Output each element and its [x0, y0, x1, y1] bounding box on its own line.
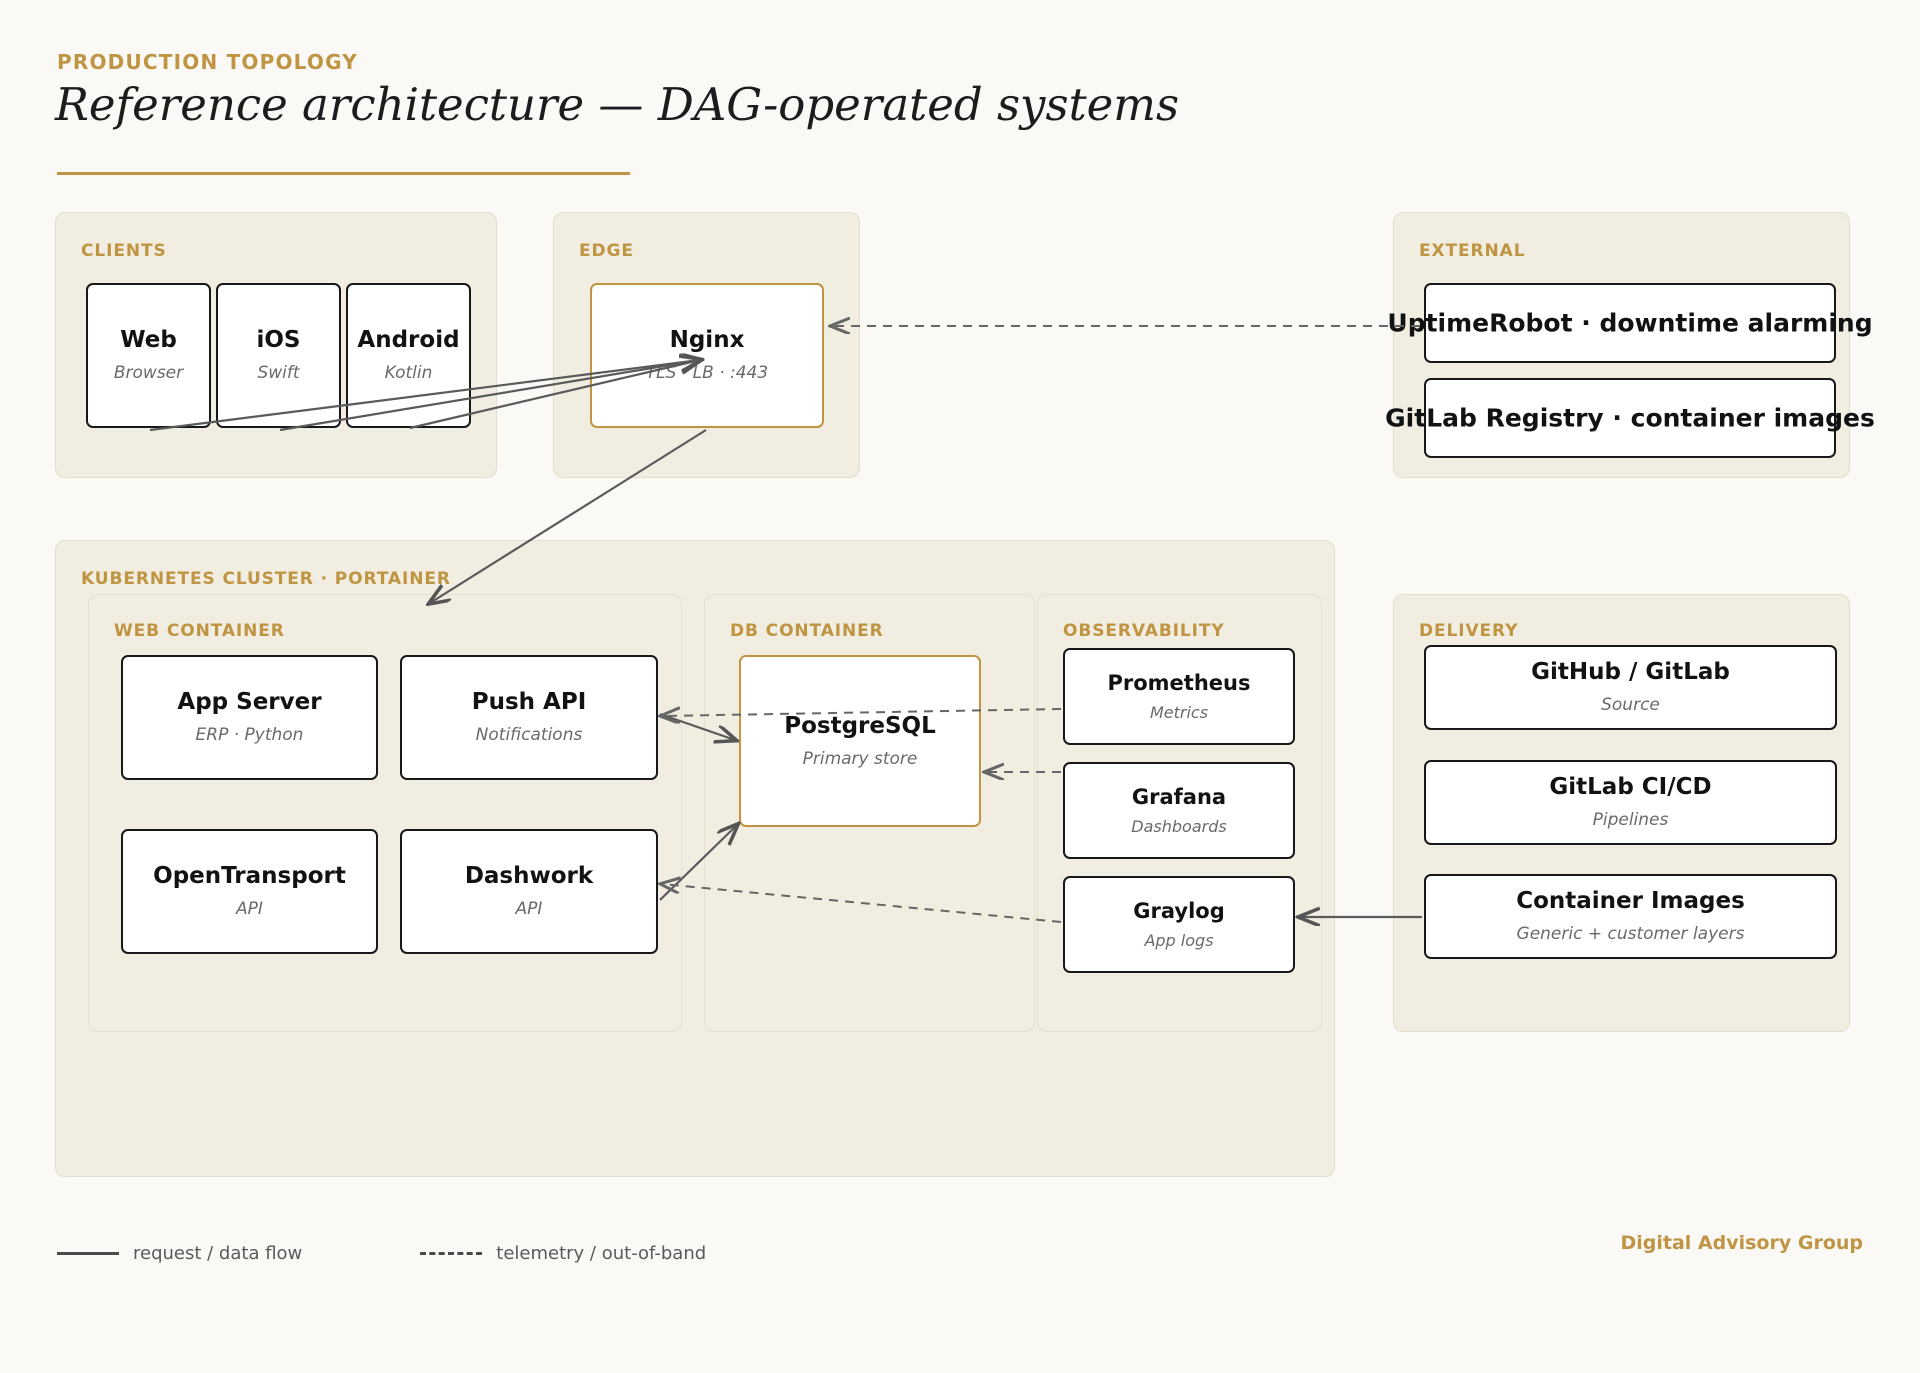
- card-title: Grafana: [1132, 786, 1226, 809]
- card-graylog[interactable]: Graylog App logs: [1063, 876, 1295, 973]
- solid-line-icon: [57, 1252, 119, 1255]
- legend-label: request / data flow: [133, 1243, 302, 1264]
- card-title: OpenTransport: [153, 864, 346, 889]
- card-subtitle: ERP · Python: [196, 726, 304, 745]
- card-gitlab-registry[interactable]: GitLab Registry · container images: [1424, 378, 1836, 458]
- card-subtitle: Primary store: [803, 750, 918, 769]
- card-ios[interactable]: iOS Swift: [216, 283, 341, 428]
- card-title: Web: [120, 328, 177, 353]
- card-subtitle: Generic + customer layers: [1517, 925, 1745, 944]
- card-title: Container Images: [1516, 889, 1745, 914]
- card-web[interactable]: Web Browser: [86, 283, 211, 428]
- card-opentransport[interactable]: OpenTransport API: [121, 829, 378, 954]
- card-title: Graylog: [1133, 900, 1224, 923]
- card-subtitle: TLS · LB · :443: [646, 364, 768, 383]
- title-rule: [57, 172, 630, 175]
- card-title: App Server: [177, 690, 321, 715]
- legend-label: telemetry / out-of-band: [496, 1243, 706, 1264]
- card-title: Prometheus: [1108, 672, 1251, 695]
- brand-label: Digital Advisory Group: [1620, 1232, 1863, 1254]
- card-subtitle: Notifications: [476, 726, 583, 745]
- card-title: UptimeRobot · downtime alarming: [1387, 309, 1872, 337]
- card-title: iOS: [256, 328, 300, 353]
- legend-item-dashed: telemetry / out-of-band: [420, 1243, 706, 1264]
- card-subtitle: Browser: [114, 364, 183, 383]
- card-subtitle: API: [236, 900, 263, 919]
- card-android[interactable]: Android Kotlin: [346, 283, 471, 428]
- card-title: Nginx: [670, 328, 745, 353]
- card-subtitle: API: [516, 900, 543, 919]
- card-postgresql[interactable]: PostgreSQL Primary store: [739, 655, 981, 827]
- card-nginx[interactable]: Nginx TLS · LB · :443: [590, 283, 824, 428]
- card-gitlab-cicd[interactable]: GitLab CI/CD Pipelines: [1424, 760, 1837, 845]
- card-app-server[interactable]: App Server ERP · Python: [121, 655, 378, 780]
- panel-label-delivery: DELIVERY: [1419, 621, 1518, 641]
- card-subtitle: Pipelines: [1593, 811, 1669, 830]
- panel-label-kubernetes: KUBERNETES CLUSTER · PORTAINER: [81, 569, 451, 589]
- card-title: Push API: [472, 690, 587, 715]
- card-title: GitLab Registry · container images: [1385, 404, 1875, 432]
- panel-label-web-container: WEB CONTAINER: [114, 621, 285, 641]
- panel-label-external: EXTERNAL: [1419, 241, 1525, 261]
- card-subtitle: Metrics: [1150, 704, 1208, 722]
- card-dashwork[interactable]: Dashwork API: [400, 829, 658, 954]
- card-title: PostgreSQL: [784, 714, 936, 739]
- card-title: GitLab CI/CD: [1549, 775, 1711, 800]
- legend-item-solid: request / data flow: [57, 1243, 302, 1264]
- card-grafana[interactable]: Grafana Dashboards: [1063, 762, 1295, 859]
- card-prometheus[interactable]: Prometheus Metrics: [1063, 648, 1295, 745]
- card-subtitle: Dashboards: [1131, 818, 1226, 836]
- card-github-gitlab[interactable]: GitHub / GitLab Source: [1424, 645, 1837, 730]
- card-title: Android: [357, 328, 459, 353]
- panel-label-db-container: DB CONTAINER: [730, 621, 884, 641]
- card-title: Dashwork: [465, 864, 593, 889]
- card-subtitle: Kotlin: [385, 364, 433, 383]
- diagram-canvas: PRODUCTION TOPOLOGY Reference architectu…: [0, 0, 1920, 1373]
- page-title: Reference architecture — DAG-operated sy…: [55, 78, 1179, 131]
- card-push-api[interactable]: Push API Notifications: [400, 655, 658, 780]
- card-title: GitHub / GitLab: [1531, 660, 1730, 685]
- eyebrow-label: PRODUCTION TOPOLOGY: [57, 50, 358, 74]
- card-container-images[interactable]: Container Images Generic + customer laye…: [1424, 874, 1837, 959]
- panel-label-clients: CLIENTS: [81, 241, 167, 261]
- legend: request / data flow telemetry / out-of-b…: [57, 1243, 824, 1264]
- card-uptimerobot[interactable]: UptimeRobot · downtime alarming: [1424, 283, 1836, 363]
- card-subtitle: Swift: [257, 364, 299, 383]
- panel-label-edge: EDGE: [579, 241, 634, 261]
- card-subtitle: App logs: [1144, 932, 1213, 950]
- card-subtitle: Source: [1601, 696, 1660, 715]
- panel-label-observability: OBSERVABILITY: [1063, 621, 1225, 641]
- dashed-line-icon: [420, 1252, 482, 1255]
